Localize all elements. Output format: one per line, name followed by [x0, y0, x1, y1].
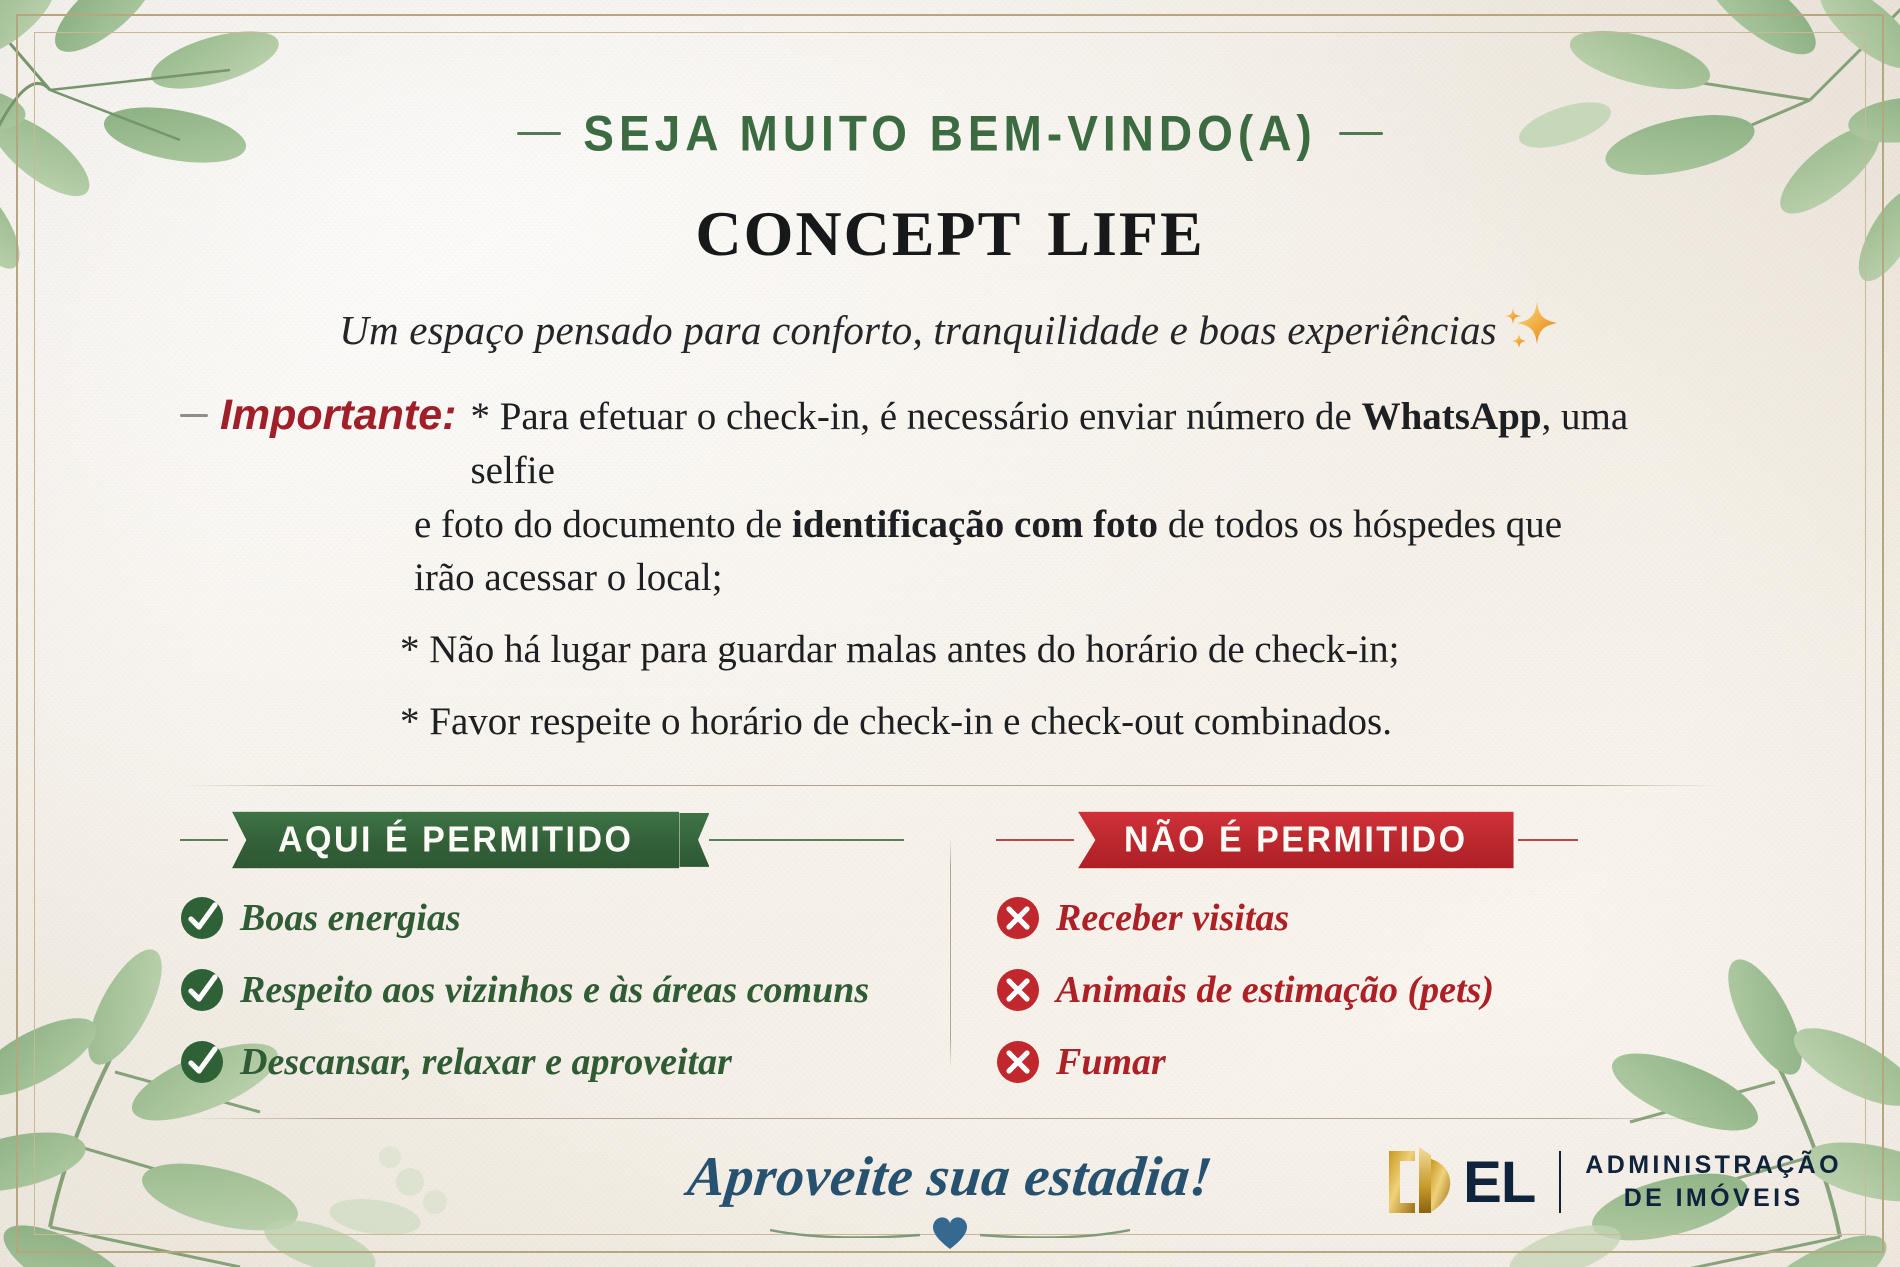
forbidden-banner: NÃO É PERMITIDO	[1078, 812, 1514, 869]
list-item: Respeito aos vizinhos e às áreas comuns	[180, 968, 904, 1012]
list-item: Animais de estimação (pets)	[996, 968, 1720, 1012]
poster-canvas: SEJA MUITO BEM-VINDO(A) Concept Life Um …	[0, 0, 1900, 1267]
rules-columns: AQUI É PERMITIDO Boas energias	[180, 812, 1720, 1084]
logo-tagline: ADMINISTRAÇÃO DE IMÓVEIS	[1585, 1149, 1842, 1215]
allowed-banner-tail-icon	[679, 813, 709, 867]
welcome-dash-right-icon	[1339, 132, 1383, 135]
logo-wordmark: EL	[1463, 1149, 1535, 1216]
tagline: Um espaço pensado para conforto, tranqui…	[180, 298, 1720, 354]
x-circle-icon	[996, 896, 1040, 940]
important-line-1a: * Para efetuar o check-in, é necessário …	[470, 395, 1361, 438]
important-first-line: Importante: * Para efetuar o check-in, é…	[180, 390, 1720, 498]
column-divider	[950, 838, 951, 1068]
forbidden-banner-row: NÃO É PERMITIDO	[996, 812, 1720, 868]
important-line-1-bold: WhatsApp	[1362, 395, 1542, 438]
forbidden-column: NÃO É PERMITIDO Receber visitas Anim	[944, 812, 1720, 1084]
welcome-dash-left-icon	[517, 132, 561, 135]
allowed-banner-row: AQUI É PERMITIDO	[180, 812, 904, 868]
page-title: Concept Life	[180, 178, 1720, 270]
flourish-left-icon	[770, 1228, 920, 1238]
list-item: Descansar, relaxar e aproveitar	[180, 1040, 904, 1084]
forbidden-item-label: Receber visitas	[1056, 896, 1289, 940]
important-line-2b: de todos os hóspedes que	[1158, 503, 1562, 546]
company-logo: EL ADMINISTRAÇÃO DE IMÓVEIS	[1385, 1145, 1842, 1219]
logo-tagline-line1: ADMINISTRAÇÃO	[1585, 1149, 1842, 1182]
forbidden-rule-right-icon	[1518, 839, 1578, 841]
heart-flourish	[180, 1215, 1720, 1251]
forbidden-item-label: Fumar	[1056, 1040, 1166, 1084]
allowed-item-label: Boas energias	[240, 896, 461, 940]
check-circle-icon	[180, 968, 224, 1012]
welcome-header: SEJA MUITO BEM-VINDO(A)	[180, 106, 1720, 160]
allowed-rule-right-icon	[709, 839, 904, 841]
poster-content: SEJA MUITO BEM-VINDO(A) Concept Life Um …	[0, 0, 1900, 1267]
logo-tagline-line2: DE IMÓVEIS	[1585, 1182, 1842, 1215]
divider-bottom	[180, 1118, 1720, 1119]
forbidden-item-label: Animais de estimação (pets)	[1056, 968, 1494, 1012]
check-circle-icon	[180, 896, 224, 940]
check-circle-icon	[180, 1040, 224, 1084]
forbidden-rule-left-icon	[996, 839, 1074, 841]
sparkles-icon	[1499, 298, 1561, 350]
list-item: Fumar	[996, 1040, 1720, 1084]
allowed-banner: AQUI É PERMITIDO	[232, 812, 679, 869]
important-bullet-3: * Favor respeite o horário de check-in e…	[180, 695, 1720, 749]
signature-text: Aproveite sua estadia!	[684, 1145, 1215, 1209]
x-circle-icon	[996, 1040, 1040, 1084]
allowed-column: AQUI É PERMITIDO Boas energias	[180, 812, 944, 1084]
flourish-right-icon	[980, 1228, 1130, 1238]
divider-top	[180, 785, 1720, 786]
important-line-2-bold: identificação com foto	[792, 503, 1158, 546]
welcome-text: SEJA MUITO BEM-VINDO(A)	[583, 104, 1316, 162]
allowed-item-label: Descansar, relaxar e aproveitar	[240, 1040, 732, 1084]
heart-icon	[930, 1215, 970, 1251]
x-circle-icon	[996, 968, 1040, 1012]
important-line-2a: e foto do documento de	[414, 503, 792, 546]
important-line-3: irão acessar o local;	[180, 551, 1720, 605]
important-line-2: e foto do documento de identificação com…	[180, 498, 1720, 552]
tagline-text: Um espaço pensado para conforto, tranqui…	[339, 307, 1497, 353]
logo-separator	[1559, 1151, 1561, 1213]
important-line-1: * Para efetuar o check-in, é necessário …	[470, 390, 1720, 498]
building-d-icon	[1385, 1145, 1463, 1219]
important-bullet-2: * Não há lugar para guardar malas antes …	[180, 623, 1720, 677]
important-notice: Importante: * Para efetuar o check-in, é…	[180, 390, 1720, 749]
list-item: Boas energias	[180, 896, 904, 940]
allowed-item-label: Respeito aos vizinhos e às áreas comuns	[240, 968, 869, 1012]
allowed-rule-left-icon	[180, 839, 228, 841]
important-dash-icon	[180, 414, 208, 417]
important-label: Importante:	[220, 391, 457, 440]
list-item: Receber visitas	[996, 896, 1720, 940]
